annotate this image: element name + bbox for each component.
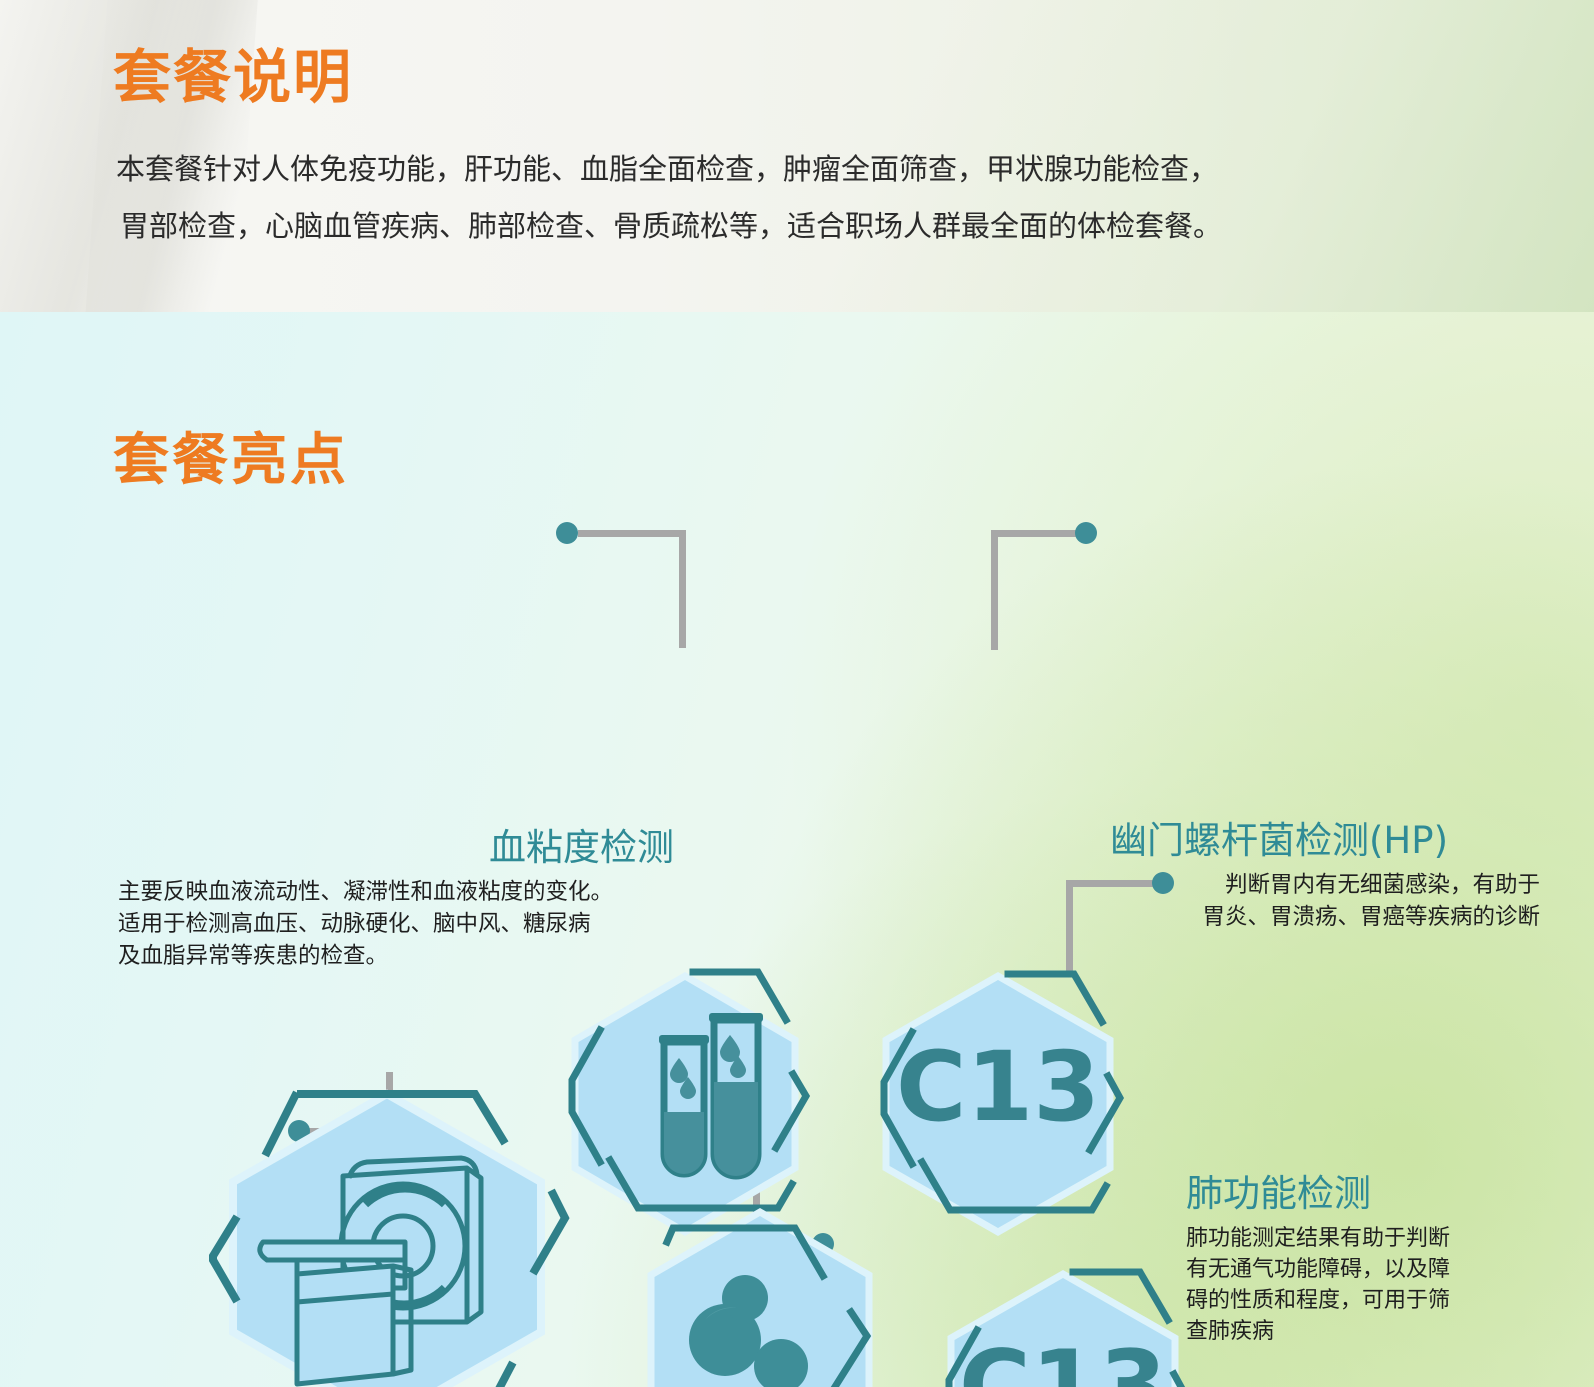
banner-description-line: 胃部检查，心脑血管疾病、肺部检查、骨质疏松等，适合职场人群最全面的体检套餐。	[116, 199, 1486, 256]
callout-body-line: 主要反映血液流动性、凝滞性和血液粘度的变化。	[118, 876, 678, 908]
callout-body-line: 胃炎、胃溃疡、胃癌等疾病的诊断	[1110, 901, 1540, 933]
callout-helicobacter-pylori[interactable]: 幽门螺杆菌检测(HP) 判断胃内有无细菌感染，有助于 胃炎、胃溃疡、胃癌等疾病的…	[1110, 821, 1540, 933]
callout-body-line: 判断胃内有无细菌感染，有助于	[1110, 869, 1540, 901]
callout-body-line: 有无通气功能障碍，以及障	[1186, 1253, 1486, 1284]
c13-top-hex[interactable]: C13	[868, 962, 1128, 1222]
callout-body-blood-viscosity: 主要反映血液流动性、凝滞性和血液粘度的变化。 适用于检测高血压、动脉硬化、脑中风…	[118, 876, 678, 972]
banner-description: 本套餐针对人体免疫功能，肝功能、血脂全面检查，肿瘤全面筛查，甲状腺功能检查， 胃…	[116, 142, 1486, 255]
c13-text-icon: C13	[896, 1031, 1100, 1143]
molecule-hex[interactable]	[637, 1200, 882, 1387]
banner-description-line: 本套餐针对人体免疫功能，肝功能、血脂全面检查，肿瘤全面筛查，甲状腺功能检查，	[116, 142, 1486, 199]
banner-title: 套餐说明	[113, 44, 353, 111]
callout-body-line: 查肺疾病	[1186, 1315, 1486, 1346]
c13-bottom-hex-svg: C13	[932, 1260, 1194, 1387]
callout-body-lung-function: 肺功能测定结果有助于判断 有无通气功能障碍，以及障 碍的性质和程度，可用于筛 查…	[1186, 1222, 1486, 1347]
connector-dot-helicobacter	[1075, 522, 1097, 544]
c13-bottom-hex[interactable]: C13	[932, 1260, 1194, 1387]
molecule-hex-svg	[637, 1200, 882, 1387]
callout-title-blood-viscosity: 血粘度检测	[118, 828, 678, 869]
test-tubes-hex-svg	[560, 962, 810, 1222]
callout-body-line: 肺功能测定结果有助于判断	[1186, 1222, 1486, 1253]
package-highlights-panel: 套餐亮点	[0, 312, 1594, 1387]
ct-scanner-hex-svg	[205, 1074, 565, 1387]
panel-title: 套餐亮点	[113, 415, 349, 496]
c13-top-hex-svg: C13	[868, 962, 1128, 1222]
callout-lung-function[interactable]: 肺功能检测 肺功能测定结果有助于判断 有无通气功能障碍，以及障 碍的性质和程度，…	[1186, 1174, 1486, 1347]
callout-body-line: 适用于检测高血压、动脉硬化、脑中风、糖尿病	[118, 908, 678, 940]
infographic-page: 套餐说明 本套餐针对人体免疫功能，肝功能、血脂全面检查，肿瘤全面筛查，甲状腺功能…	[0, 0, 1594, 1387]
test-tubes-hex[interactable]	[560, 962, 810, 1222]
c13-text-icon: C13	[959, 1330, 1167, 1387]
connector-dot-blood-viscosity	[556, 522, 578, 544]
ct-scanner-hex[interactable]	[205, 1074, 565, 1387]
callout-title-helicobacter-pylori: 幽门螺杆菌检测(HP)	[1110, 821, 1540, 862]
package-description-banner: 套餐说明 本套餐针对人体免疫功能，肝功能、血脂全面检查，肿瘤全面筛查，甲状腺功能…	[0, 0, 1594, 312]
callout-body-line: 碍的性质和程度，可用于筛	[1186, 1284, 1486, 1315]
callout-body-line: 及血脂异常等疾患的检查。	[118, 940, 678, 972]
callout-blood-viscosity[interactable]: 血粘度检测 主要反映血液流动性、凝滞性和血液粘度的变化。 适用于检测高血压、动脉…	[118, 828, 678, 972]
callout-title-lung-function: 肺功能检测	[1186, 1174, 1486, 1215]
callout-body-helicobacter-pylori: 判断胃内有无细菌感染，有助于 胃炎、胃溃疡、胃癌等疾病的诊断	[1110, 869, 1540, 933]
